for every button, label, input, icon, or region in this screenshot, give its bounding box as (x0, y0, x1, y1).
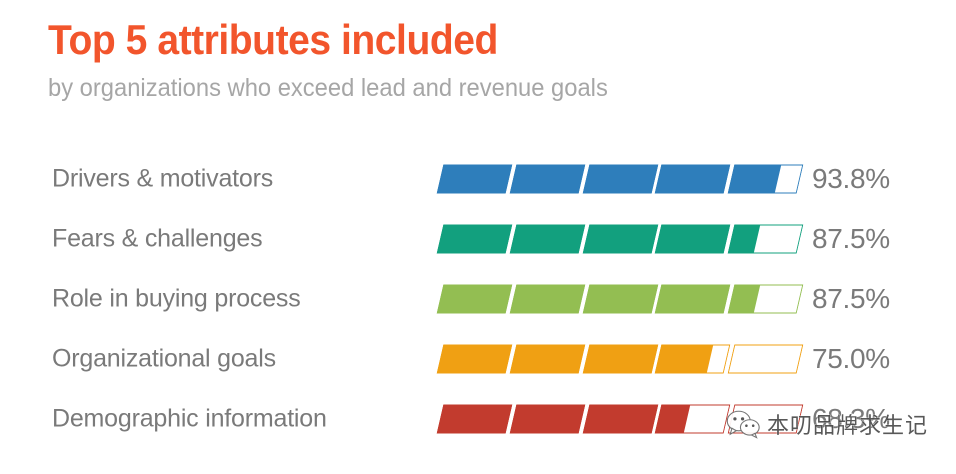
bar-segment-fill (582, 165, 657, 194)
bar-segment-fill (655, 285, 730, 314)
bar-segment (437, 285, 512, 314)
bar-segment-fill (582, 285, 657, 314)
bar-segment (728, 225, 803, 254)
bar-segment (437, 345, 512, 374)
bar-segment (509, 165, 584, 194)
chart-row: Role in buying process87.5% (0, 269, 956, 329)
row-label: Organizational goals (52, 345, 276, 374)
bar-segment (655, 405, 730, 434)
chart-row: Drivers & motivators93.8% (0, 149, 956, 209)
bar-segment (437, 165, 512, 194)
page-subtitle: by organizations who exceed lead and rev… (48, 75, 865, 103)
row-label: Role in buying process (52, 285, 301, 314)
bar-segment (509, 285, 584, 314)
bar-segment (728, 165, 803, 194)
bar-segment-fill (509, 285, 584, 314)
bar-segment (655, 345, 730, 374)
bar-segment (509, 345, 584, 374)
bar-segment-fill (437, 225, 512, 254)
bar-segment-fill (437, 285, 512, 314)
progress-bar (440, 345, 800, 374)
bar-segment (728, 345, 803, 374)
bar-segment (582, 345, 657, 374)
bar-segment-fill (728, 165, 782, 194)
progress-bar (440, 225, 800, 254)
bar-segment (728, 405, 803, 434)
bar-segment (582, 405, 657, 434)
bar-segment (655, 285, 730, 314)
row-label: Fears & challenges (52, 225, 262, 254)
bar-segment-outline (728, 345, 803, 374)
row-value: 87.5% (812, 223, 890, 255)
row-value: 87.5% (812, 283, 890, 315)
bar-segment-fill (509, 345, 584, 374)
bar-segment-fill (582, 405, 657, 434)
bar-segment-fill (437, 345, 512, 374)
row-value: 93.8% (812, 163, 890, 195)
bar-segment-outline (728, 405, 803, 434)
bar-segment-fill (655, 345, 713, 374)
infographic-canvas: Top 5 attributes included by organizatio… (0, 0, 956, 474)
bar-segment (728, 285, 803, 314)
chart-row: Fears & challenges87.5% (0, 209, 956, 269)
bar-segment-fill (509, 405, 584, 434)
bar-segment-fill (509, 165, 584, 194)
bar-segment (437, 405, 512, 434)
bar-segment (582, 225, 657, 254)
row-value: 68.3% (812, 403, 890, 435)
bar-segment-fill (655, 225, 730, 254)
bar-segment (437, 225, 512, 254)
chart-row: Organizational goals75.0% (0, 329, 956, 389)
bar-segment (509, 225, 584, 254)
bar-segment (582, 285, 657, 314)
bar-segment (655, 225, 730, 254)
row-value: 75.0% (812, 343, 890, 375)
bar-segment-fill (582, 345, 657, 374)
row-label: Demographic information (52, 405, 327, 434)
bar-segment (582, 165, 657, 194)
chart-row: Demographic information68.3% (0, 389, 956, 449)
bar-segment (655, 165, 730, 194)
progress-bar (440, 285, 800, 314)
bar-segment-fill (655, 165, 730, 194)
bar-segment-fill (582, 225, 657, 254)
progress-bar (440, 165, 800, 194)
bar-chart-rows: Drivers & motivators93.8%Fears & challen… (0, 149, 956, 449)
progress-bar (440, 405, 800, 434)
bar-segment-fill (437, 165, 512, 194)
bar-segment-fill (437, 405, 512, 434)
bar-segment-fill (509, 225, 584, 254)
chart-header: Top 5 attributes included by organizatio… (48, 18, 908, 103)
row-label: Drivers & motivators (52, 165, 273, 194)
bar-segment (509, 405, 584, 434)
page-title: Top 5 attributes included (48, 18, 848, 62)
